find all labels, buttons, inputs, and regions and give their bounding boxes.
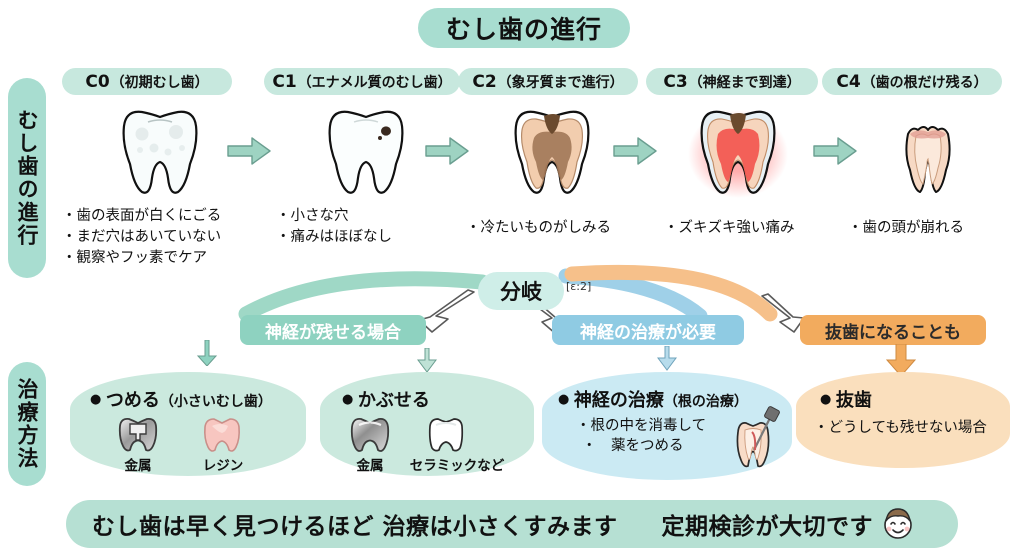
- bullet-item: 小さな穴: [276, 206, 392, 227]
- option-label-resin: レジン: [192, 454, 254, 474]
- treatment-title-text: かぶせる: [358, 390, 430, 411]
- branch-node: 分岐: [478, 272, 564, 310]
- treatment-title-root-canal: 神経の治療（根の治療）: [558, 386, 748, 412]
- stage-desc-c3: （神経まで到達）: [689, 72, 801, 92]
- banner-sub-text: 定期検診が大切です: [662, 507, 874, 541]
- branch-label-keep-nerve: 神経が残せる場合: [240, 315, 426, 345]
- tooth-small-hole-icon: [310, 104, 422, 200]
- tooth-inflamed-pulp-icon: [682, 104, 794, 200]
- treatment-title-text: つめる: [106, 390, 160, 411]
- stage-desc-c2: （象牙質まで進行）: [498, 72, 624, 92]
- treatment-notes-root-canal: 根の中を消毒して 薬をつめる: [576, 416, 706, 456]
- tooth-root-only-icon: [872, 104, 984, 200]
- option-label-metal: 金属: [110, 454, 166, 474]
- metal-inlay-icon: [114, 416, 162, 454]
- arrow-c0-to-c1-icon: [226, 136, 272, 166]
- stage-bullets-c2: 冷たいものがしみる: [466, 218, 611, 239]
- bottom-banner: むし歯は早く見つけるほど 治療は小さくすみます 定期検診が大切です: [66, 500, 958, 548]
- treatment-card-fill: つめる（小さいむし歯） 金属 レジン: [70, 372, 306, 476]
- stage-desc-c4: （歯の根だけ残る）: [862, 72, 988, 92]
- stage-code-c0: C0: [85, 72, 109, 92]
- stage-code-c1: C1: [272, 72, 296, 92]
- bullet-item: 歯の頭が崩れる: [848, 218, 964, 239]
- bullet-item: 歯の表面が白くにごる: [62, 206, 221, 227]
- bullet-item: 冷たいものがしみる: [466, 218, 611, 239]
- treatment-title-text: 神経の治療: [574, 390, 664, 411]
- connector-to-root-card-icon: [656, 346, 678, 372]
- option-label-metal: 金属: [342, 454, 398, 474]
- bullet-item: まだ穴はあいていない: [62, 227, 221, 248]
- stage-pill-c0: C0 （初期むし歯）: [62, 68, 232, 95]
- banner-main-text: むし歯は早く見つけるほど 治療は小さくすみます: [92, 507, 618, 541]
- treatment-title-text: 抜歯: [836, 390, 872, 411]
- connector-to-crown-card-icon: [416, 348, 438, 374]
- connector-to-fill-card-icon: [196, 340, 218, 366]
- note-item: 薬をつめる: [576, 436, 706, 456]
- smiling-kid-face-icon: [881, 507, 915, 541]
- treatment-card-extraction: 抜歯 どうしても残せない場合: [796, 372, 1010, 468]
- stage-bullets-c0: 歯の表面が白くにごる まだ穴はあいていない 観察やフッ素でケア: [62, 206, 221, 269]
- note-item: 根の中を消毒して: [576, 416, 706, 436]
- treatment-title-extraction: 抜歯: [820, 386, 872, 412]
- stage-pill-c2: C2 （象牙質まで進行）: [458, 68, 638, 95]
- resin-filling-icon: [198, 416, 246, 454]
- bullet-item: ズキズキ強い痛み: [664, 218, 795, 239]
- ceramic-crown-icon: [424, 416, 468, 454]
- arrow-c3-to-c4-icon: [812, 136, 858, 166]
- treatment-title-crown: かぶせる: [342, 386, 430, 412]
- treatment-subtitle-text: （小さいむし歯）: [160, 394, 272, 410]
- side-label-progression: むし歯の進行: [8, 78, 46, 278]
- stage-bullets-c3: ズキズキ強い痛み: [664, 218, 795, 239]
- page-title: むし歯の進行: [418, 8, 630, 48]
- branch-label-nerve-treatment: 神経の治療が必要: [552, 315, 744, 345]
- arrow-c1-to-c2-icon: [424, 136, 470, 166]
- note-item: どうしても残せない場合: [814, 418, 987, 438]
- stage-pill-c4: C4 （歯の根だけ残る）: [822, 68, 1002, 95]
- stage-code-c3: C3: [663, 72, 687, 92]
- stage-bullets-c1: 小さな穴 痛みはほぼなし: [276, 206, 392, 248]
- stage-pill-c1: C1 （エナメル質のむし歯）: [264, 68, 460, 95]
- arrow-c2-to-c3-icon: [612, 136, 658, 166]
- tooth-dentin-decay-icon: [496, 104, 608, 200]
- branch-label-extraction: 抜歯になることも: [800, 315, 986, 345]
- stage-code-c4: C4: [836, 72, 860, 92]
- tooth-white-spots-icon: [104, 104, 216, 200]
- root-canal-file-icon: [724, 406, 782, 472]
- bullet-item: 痛みはほぼなし: [276, 227, 392, 248]
- treatment-notes-extraction: どうしても残せない場合: [814, 418, 987, 438]
- stage-desc-c1: （エナメル質のむし歯）: [298, 72, 452, 92]
- treatment-card-crown: かぶせる 金属 セラミックなど: [320, 372, 534, 476]
- stage-code-c2: C2: [472, 72, 496, 92]
- metal-crown-icon: [346, 416, 394, 454]
- treatment-title-fill: つめる（小さいむし歯）: [90, 386, 272, 412]
- arrow-to-keep-nerve-icon: [419, 290, 474, 332]
- branch-annotation: [ɛ:2]: [566, 280, 591, 293]
- stage-pill-c3: C3 （神経まで到達）: [646, 68, 818, 95]
- stage-desc-c0: （初期むし歯）: [111, 72, 209, 92]
- stage-bullets-c4: 歯の頭が崩れる: [848, 218, 964, 239]
- treatment-card-root-canal: 神経の治療（根の治療） 根の中を消毒して 薬をつめる: [542, 372, 792, 480]
- option-label-ceramic: セラミックなど: [404, 454, 510, 474]
